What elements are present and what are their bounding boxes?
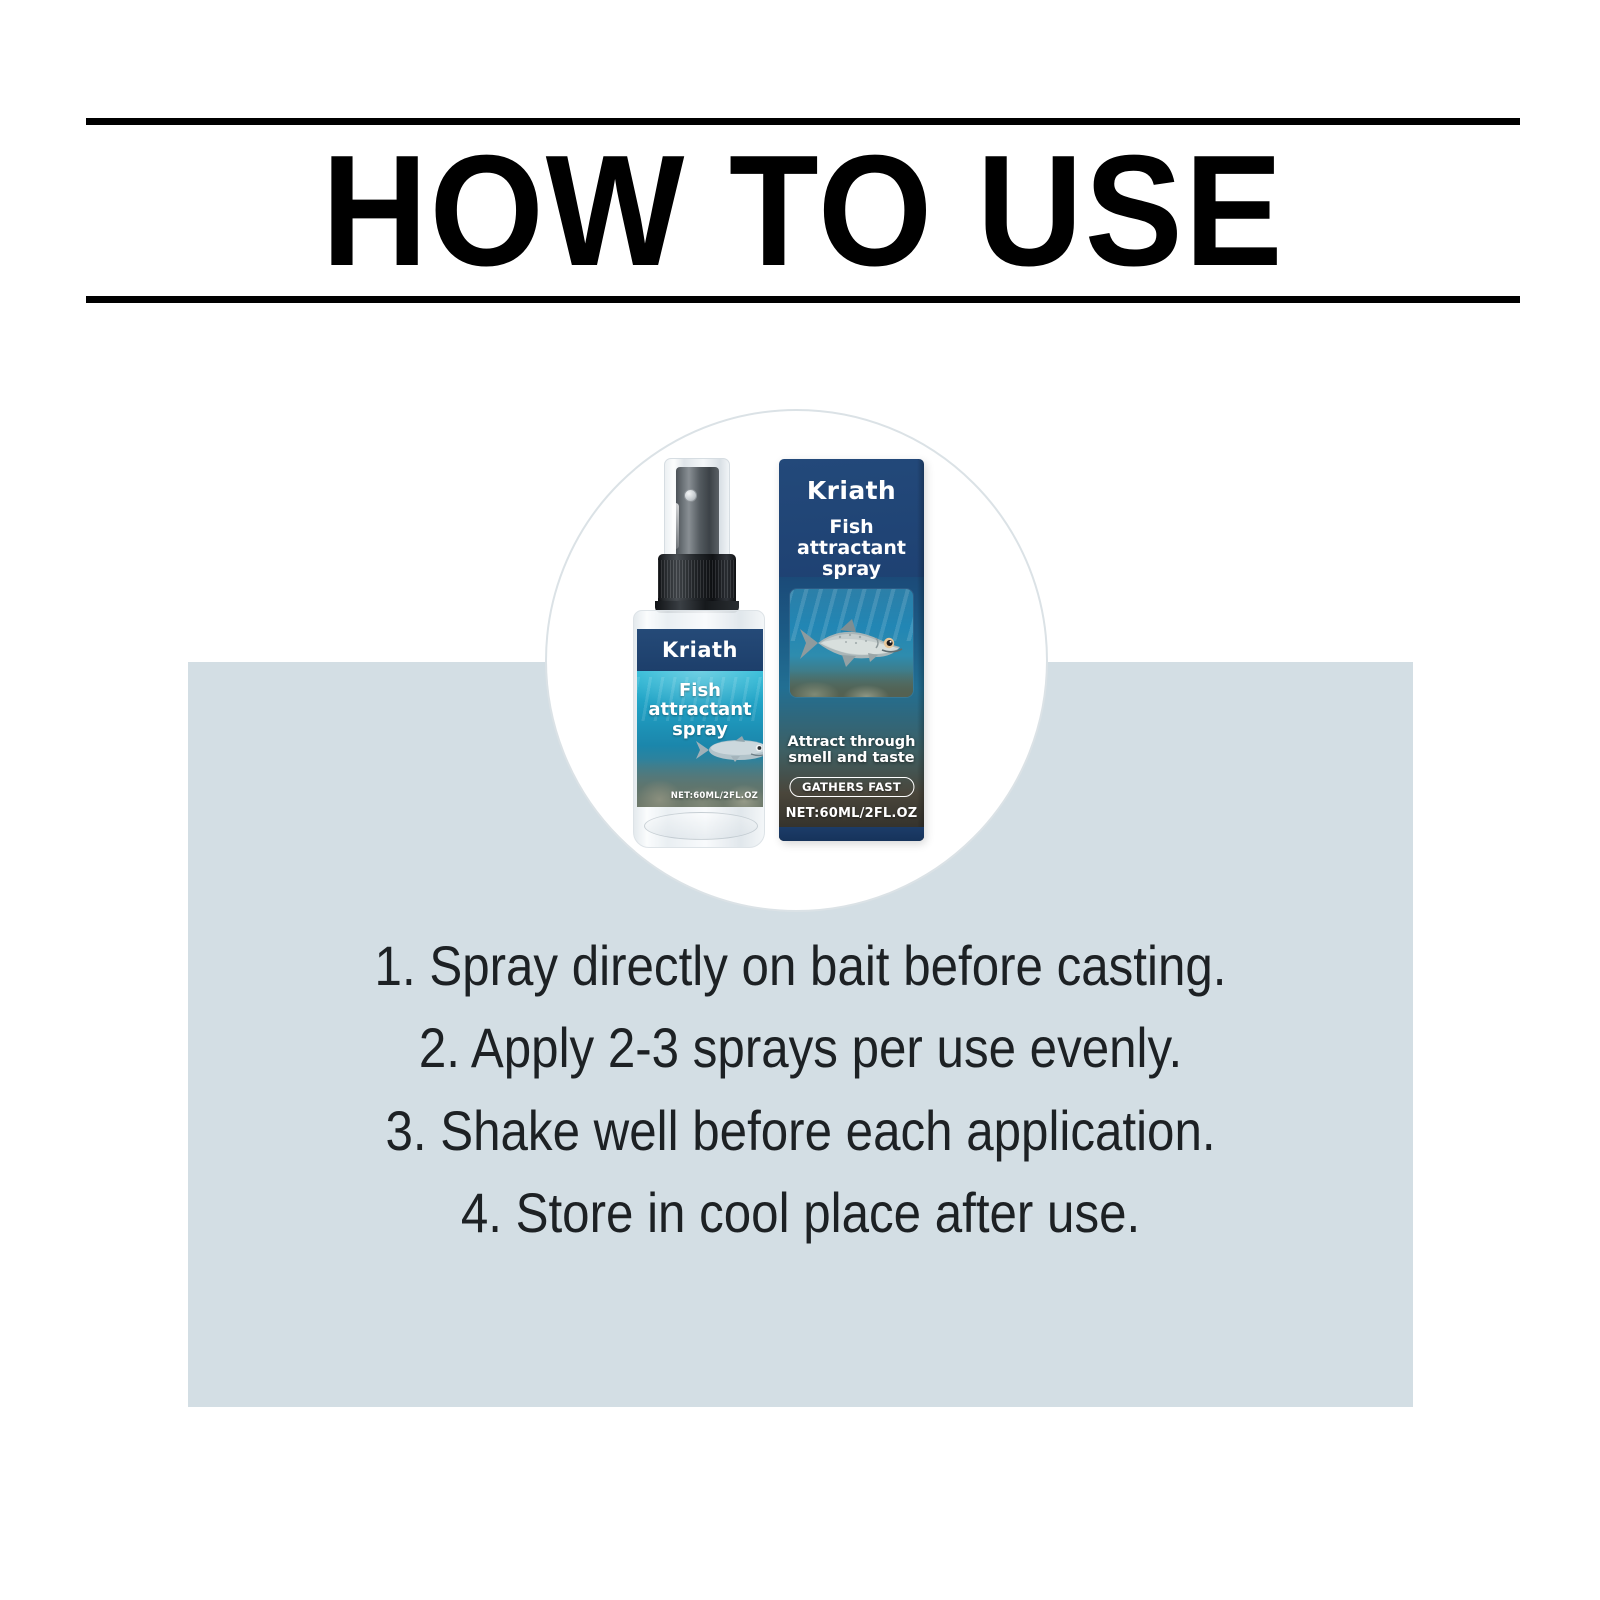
box-name-line-1: Fish [779, 517, 924, 538]
bottle-cap-highlight [672, 503, 679, 549]
bottle-net-volume: NET:60ML/2FL.OZ [671, 791, 758, 801]
box-tagline: Attract through smell and taste [779, 734, 924, 767]
spray-bottle: Kriath Fish attractant spray NET:60ML/2F… [633, 458, 765, 848]
instructions-list: 1. Spray directly on bait before casting… [188, 925, 1413, 1254]
bottle-nozzle-dot-icon [684, 489, 697, 502]
instruction-step-1: 1. Spray directly on bait before casting… [262, 925, 1340, 1007]
bottle-name-line-3: spray [637, 720, 763, 739]
instruction-step-2: 2. Apply 2-3 sprays per use evenly. [262, 1007, 1340, 1089]
header: HOW TO USE [86, 118, 1520, 303]
product-showcase-circle: Kriath Fish attractant spray NET:60ML/2F… [545, 409, 1048, 912]
bottle-product-name: Fish attractant spray [637, 681, 763, 739]
bottle-clear-cap [664, 458, 730, 556]
box-tagline-line-2: smell and taste [779, 750, 924, 767]
box-bottom-band [779, 827, 924, 841]
box-brand-name: Kriath [779, 476, 924, 505]
box-name-line-3: spray [779, 559, 924, 580]
box-tagline-line-1: Attract through [779, 734, 924, 751]
box-net-volume: NET:60ML/2FL.OZ [779, 806, 924, 821]
box-right-edge-shading [917, 459, 924, 841]
page-title: HOW TO USE [136, 125, 1470, 296]
product-box: Kriath Fish attractant spray [779, 459, 924, 841]
header-rule-bottom [86, 296, 1520, 303]
instruction-step-4: 4. Store in cool place after use. [262, 1172, 1340, 1254]
instruction-step-3: 3. Shake well before each application. [262, 1090, 1340, 1172]
bottle-base [644, 812, 758, 840]
bottle-name-line-1: Fish [637, 681, 763, 700]
box-fish-icon [796, 613, 908, 673]
bottle-pump-stem [676, 467, 719, 556]
product-image-group: Kriath Fish attractant spray NET:60ML/2F… [547, 411, 1046, 910]
bottle-name-line-2: attractant [637, 700, 763, 719]
box-product-name: Fish attractant spray [779, 517, 924, 580]
bottle-label: Kriath Fish attractant spray NET:60ML/2F… [637, 629, 763, 807]
bottle-pump-collar [658, 554, 736, 606]
bottle-body: Kriath Fish attractant spray NET:60ML/2F… [633, 610, 765, 848]
box-fish-photo [790, 589, 913, 697]
box-badge-gathers-fast: GATHERS FAST [789, 777, 914, 797]
bottle-label-brand-band: Kriath [637, 629, 763, 671]
bottle-brand-name: Kriath [662, 638, 738, 662]
box-name-line-2: attractant [779, 538, 924, 559]
